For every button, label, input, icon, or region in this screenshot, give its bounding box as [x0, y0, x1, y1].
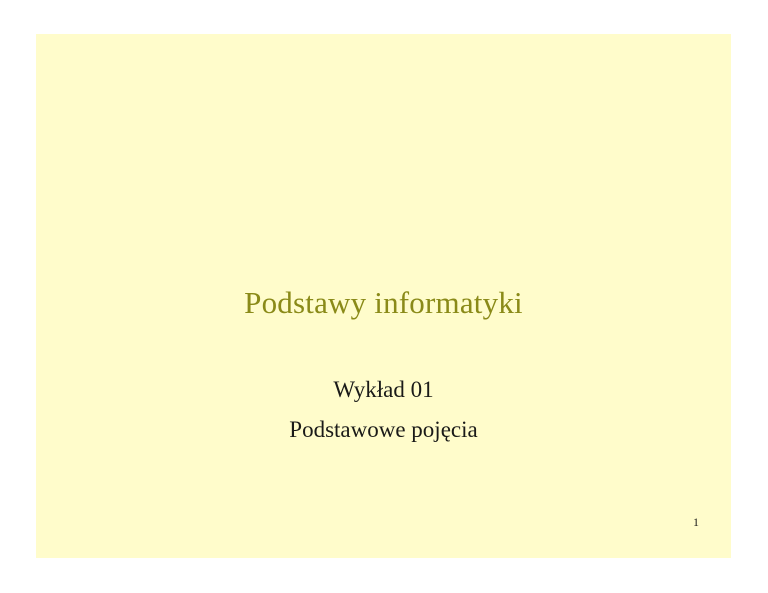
slide-page-number: 1	[686, 515, 706, 530]
slide-title: Podstawy informatyki	[36, 283, 731, 323]
presentation-page-canvas: Podstawy informatyki Wykład 01 Podstawow…	[0, 0, 768, 593]
subtitle-line-topic: Podstawowe pojęcia	[36, 410, 731, 450]
slide: Podstawy informatyki Wykład 01 Podstawow…	[36, 34, 731, 558]
subtitle-line-lecture-number: Wykład 01	[36, 370, 731, 410]
slide-subtitle: Wykład 01 Podstawowe pojęcia	[36, 370, 731, 450]
